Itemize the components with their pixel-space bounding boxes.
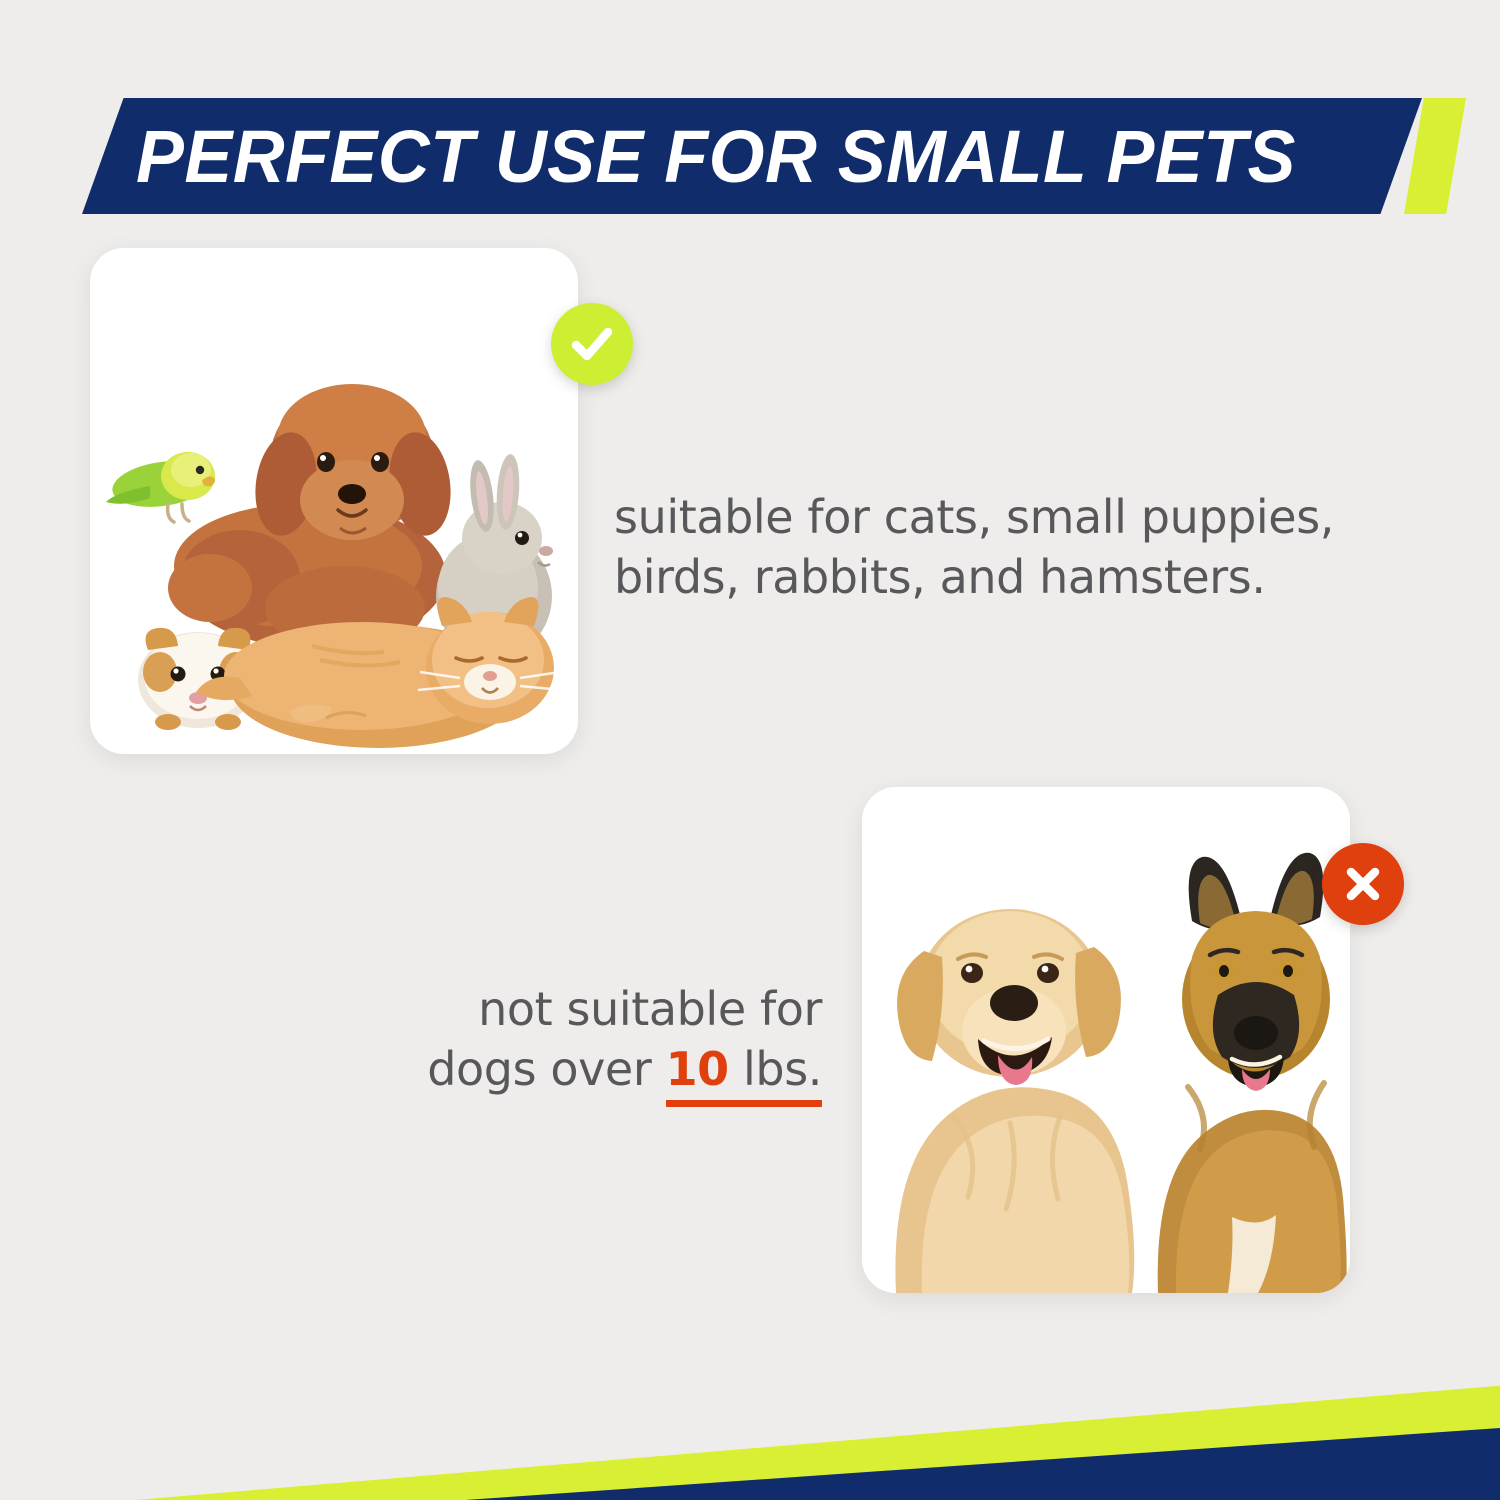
photo-card-suitable-image [90,248,578,754]
x-badge [1322,843,1404,925]
caption-not-suitable: not suitable for dogs over 10 lbs. [380,980,822,1100]
small-pets-photo [90,248,578,754]
caption-suffix: lbs. [729,1042,822,1096]
x-icon [1340,861,1386,907]
caption-suitable: suitable for cats, small puppies, birds,… [614,488,1444,608]
page-title: PERFECT USE FOR SMALL PETS [136,98,1296,214]
weight-limit-value: 10 [666,1042,729,1096]
weight-limit-underline: 10 lbs. [666,1042,822,1107]
caption-prefix: dogs over [427,1042,665,1096]
large-dogs-photo [862,787,1350,1293]
caption-suitable-line1: suitable for cats, small puppies, [614,488,1444,548]
photo-card-not-suitable [862,787,1350,1293]
caption-suitable-line2: birds, rabbits, and hamsters. [614,548,1444,608]
caption-not-suitable-line2: dogs over 10 lbs. [380,1040,822,1100]
check-badge [551,303,633,385]
photo-card-not-suitable-image [862,787,1350,1293]
header-banner: PERFECT USE FOR SMALL PETS [0,98,1500,214]
photo-card-suitable [90,248,578,754]
caption-not-suitable-line1: not suitable for [380,980,822,1040]
check-icon [569,321,615,367]
infographic-root: PERFECT USE FOR SMALL PETS [0,0,1500,1500]
